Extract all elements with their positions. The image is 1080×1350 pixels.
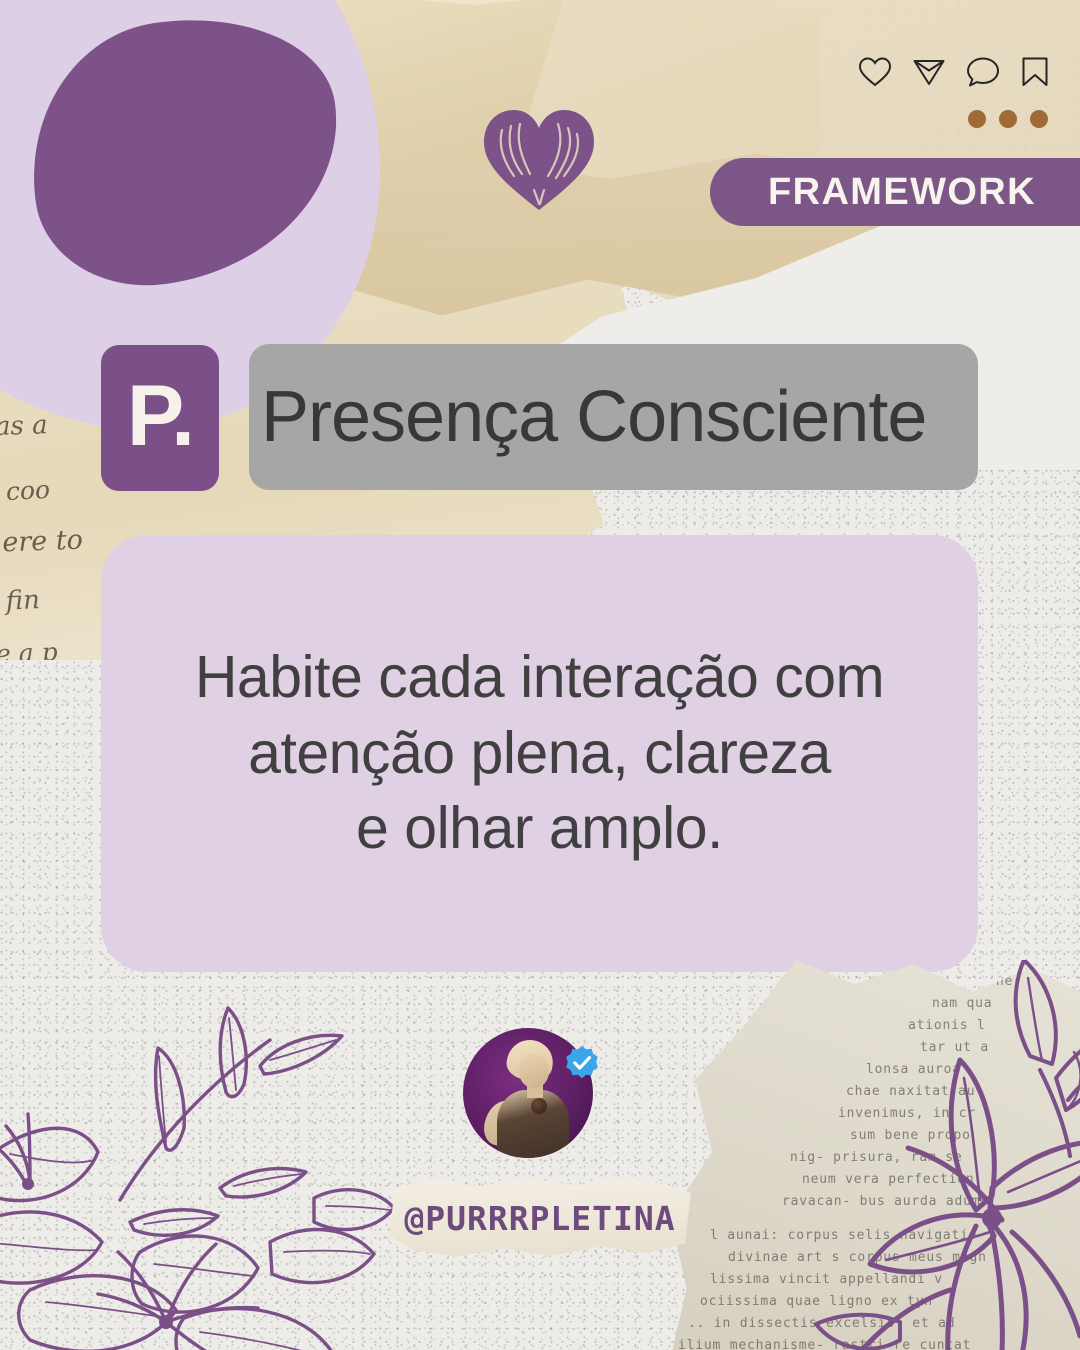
comment-bubble-icon[interactable] <box>966 56 1000 88</box>
lily-line-art-icon <box>0 870 400 1350</box>
body-text: Habite cada interação com atenção plena,… <box>195 640 884 867</box>
handwriting-line: a fin <box>0 585 41 618</box>
account-handle[interactable]: @PURRRPLETINA <box>404 1199 675 1238</box>
flower-line-art-icon <box>780 960 1080 1350</box>
letter-badge: P. <box>101 345 219 491</box>
heart-icon[interactable] <box>858 56 892 88</box>
handle-strip: @PURRRPLETINA <box>389 1176 691 1260</box>
framework-badge-label: FRAMEWORK <box>768 171 1036 214</box>
handwriting-line: i coo <box>0 475 51 507</box>
instagram-action-icons <box>858 56 1050 88</box>
letter-badge-text: P. <box>127 373 193 459</box>
avatar-figure-necklace <box>531 1098 547 1114</box>
avatar[interactable] <box>463 1028 593 1158</box>
verified-check-icon <box>563 1044 601 1082</box>
title-box: Presença Consciente <box>249 344 978 490</box>
hand-drawn-heart-icon <box>478 104 600 214</box>
dot <box>968 110 986 128</box>
handwriting-line: as a <box>0 410 48 442</box>
dot <box>1030 110 1048 128</box>
dot <box>999 110 1017 128</box>
paper-plane-icon[interactable] <box>912 56 946 88</box>
three-dots-icon[interactable] <box>968 110 1048 128</box>
instagram-post-canvas: this opportunityw to inquireou are intim… <box>0 0 1080 1350</box>
page-title: Presença Consciente <box>249 376 926 458</box>
bookmark-icon[interactable] <box>1020 56 1050 88</box>
handwriting-line: here to <box>0 525 83 559</box>
framework-badge: FRAMEWORK <box>710 158 1080 226</box>
handwriting-line: be a p <box>0 637 58 660</box>
avatar-figure-face <box>519 1054 549 1088</box>
